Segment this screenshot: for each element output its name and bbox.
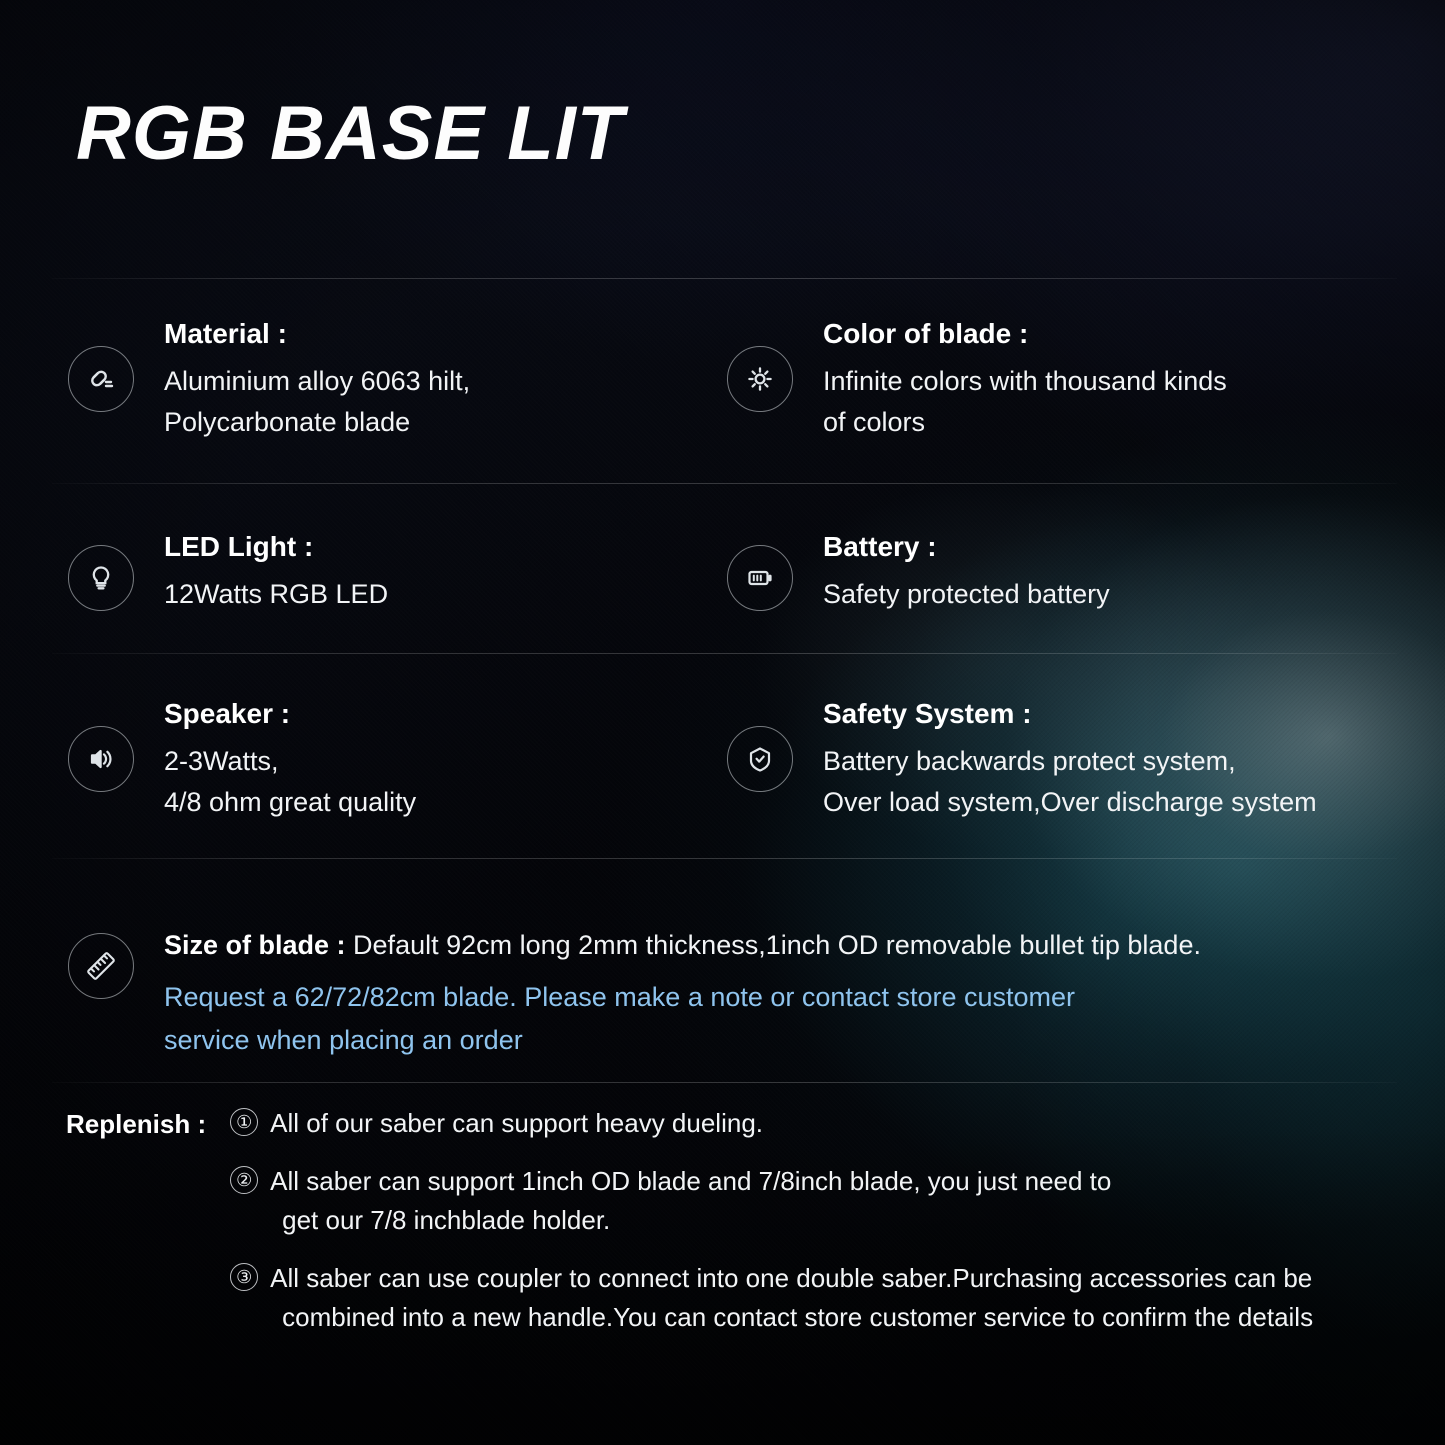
spec-item-color-of-blade: Color of blade : Infinite colors with th… xyxy=(727,320,1227,443)
spec-label: LED Light : xyxy=(164,533,388,561)
spec-item-speaker: Speaker : 2-3Watts, 4/8 ohm great qualit… xyxy=(68,700,416,823)
divider-row-1-2 xyxy=(52,483,1397,484)
divider-replenish xyxy=(52,1082,1397,1083)
spec-value-line: of colors xyxy=(823,402,1227,443)
divider-row-3-4 xyxy=(52,858,1397,859)
list-item: ② All saber can support 1inch OD blade a… xyxy=(230,1162,1313,1239)
circled-number-3-icon: ③ xyxy=(230,1263,258,1291)
page-title: RGB BASE LIT xyxy=(76,96,624,172)
circled-number-2-icon: ② xyxy=(230,1166,258,1194)
speaker-icon xyxy=(68,726,134,792)
replenish-item-text: All saber can use coupler to connect int… xyxy=(270,1259,1313,1336)
spec-value-line: Aluminium alloy 6063 hilt, xyxy=(164,361,470,402)
spec-value-line: Polycarbonate blade xyxy=(164,402,470,443)
spec-label: Speaker : xyxy=(164,700,416,728)
size-of-blade-note-line-2: service when placing an order xyxy=(164,1019,1201,1062)
spec-value-line: Over load system,Over discharge system xyxy=(823,782,1317,823)
spec-item-led-light: LED Light : 12Watts RGB LED xyxy=(68,533,388,615)
spec-item-material: Material : Aluminium alloy 6063 hilt, Po… xyxy=(68,320,470,443)
spec-value-line: 2-3Watts, xyxy=(164,741,416,782)
replenish-label: Replenish : xyxy=(66,1104,206,1143)
spec-value-line: Battery backwards protect system, xyxy=(823,741,1317,782)
divider-top xyxy=(52,278,1397,279)
replenish-section: Replenish : ① All of our saber can suppo… xyxy=(66,1104,1313,1336)
replenish-item-line-2: combined into a new handle.You can conta… xyxy=(270,1298,1313,1336)
shield-check-icon xyxy=(727,726,793,792)
chain-link-icon xyxy=(68,346,134,412)
replenish-item-line-1: All saber can support 1inch OD blade and… xyxy=(270,1166,1111,1196)
replenish-item-text: All of our saber can support heavy dueli… xyxy=(270,1104,763,1142)
lightbulb-icon xyxy=(68,545,134,611)
circled-number-1-icon: ① xyxy=(230,1108,258,1136)
brightness-sun-icon xyxy=(727,346,793,412)
product-spec-banner: RGB BASE LIT Material : Aluminium alloy … xyxy=(0,0,1445,1445)
list-item: ③ All saber can use coupler to connect i… xyxy=(230,1259,1313,1336)
spec-item-size-of-blade: Size of blade : Default 92cm long 2mm th… xyxy=(68,932,1201,1062)
size-of-blade-default: Size of blade : Default 92cm long 2mm th… xyxy=(164,932,1201,959)
list-item: ① All of our saber can support heavy due… xyxy=(230,1104,1313,1142)
spec-item-safety-system: Safety System : Battery backwards protec… xyxy=(727,700,1317,823)
replenish-item-line-1: All of our saber can support heavy dueli… xyxy=(270,1108,763,1138)
spec-label: Battery : xyxy=(823,533,1110,561)
spec-label: Safety System : xyxy=(823,700,1317,728)
spec-label: Material : xyxy=(164,320,470,348)
battery-icon xyxy=(727,545,793,611)
spec-value-line: Infinite colors with thousand kinds xyxy=(823,361,1227,402)
size-of-blade-value: Default 92cm long 2mm thickness,1inch OD… xyxy=(353,930,1201,960)
size-of-blade-label: Size of blade : xyxy=(164,930,346,960)
spec-item-battery: Battery : Safety protected battery xyxy=(727,533,1110,615)
replenish-item-text: All saber can support 1inch OD blade and… xyxy=(270,1162,1111,1239)
replenish-item-line-2: get our 7/8 inchblade holder. xyxy=(270,1201,1111,1239)
replenish-item-line-1: All saber can use coupler to connect int… xyxy=(270,1263,1312,1293)
ruler-icon xyxy=(68,933,134,999)
divider-row-2-3 xyxy=(52,653,1397,654)
spec-label: Color of blade : xyxy=(823,320,1227,348)
spec-value-line: 4/8 ohm great quality xyxy=(164,782,416,823)
spec-value-line: 12Watts RGB LED xyxy=(164,574,388,615)
size-of-blade-note-line-1: Request a 62/72/82cm blade. Please make … xyxy=(164,976,1201,1019)
spec-value-line: Safety protected battery xyxy=(823,574,1110,615)
